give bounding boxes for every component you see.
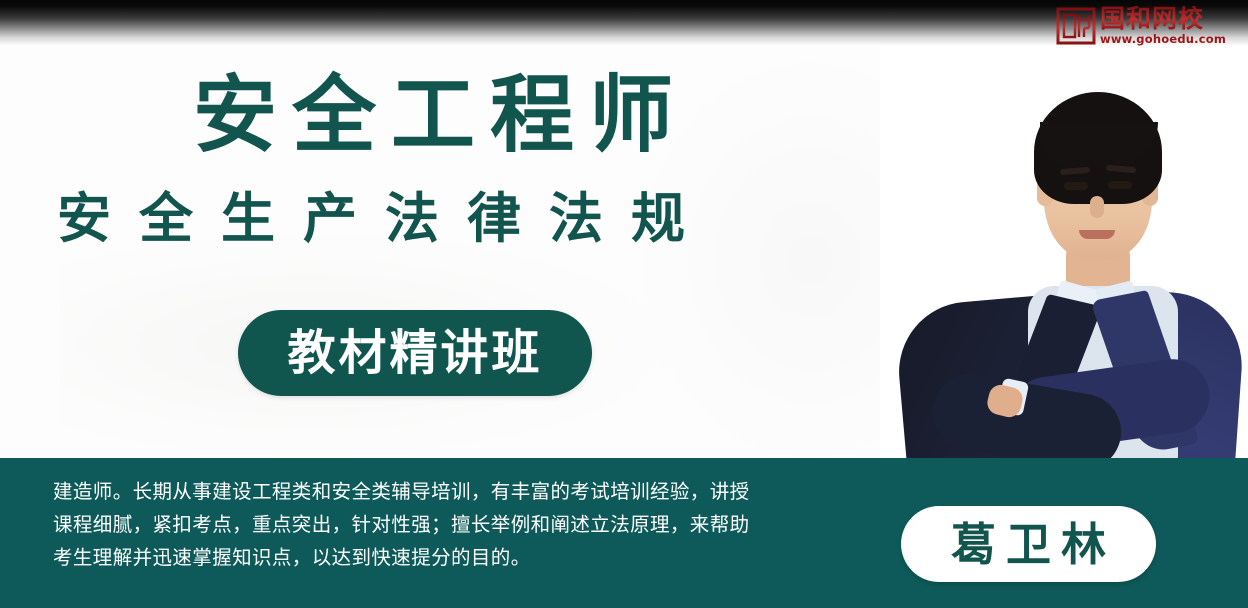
instructor-bio: 建造师。长期从事建设工程类和安全类辅导培训，有丰富的考试培训经验，讲授 课程细腻… bbox=[53, 475, 823, 574]
brand-logo-text: 国和网校 www.gohoedu.com bbox=[1100, 6, 1226, 46]
brand-logo[interactable]: 国和网校 www.gohoedu.com bbox=[1056, 2, 1242, 50]
brand-url: www.gohoedu.com bbox=[1100, 34, 1226, 46]
bio-line: 建造师。长期从事建设工程类和安全类辅导培训，有丰富的考试培训经验，讲授 bbox=[53, 475, 823, 508]
course-type-badge[interactable]: 教材精讲班 bbox=[238, 310, 592, 396]
bio-line: 考生理解并迅速掌握知识点，以达到快速提分的目的。 bbox=[53, 541, 823, 574]
instructor-name: 葛卫林 bbox=[941, 522, 1116, 567]
gohoedu-logo-mark-icon bbox=[1056, 6, 1096, 46]
brand-name: 国和网校 bbox=[1100, 6, 1226, 31]
page-subtitle: 安全生产法律法规 bbox=[57, 192, 713, 246]
page-title: 安全工程师 bbox=[193, 73, 688, 157]
eye-left bbox=[1064, 182, 1088, 190]
mouth bbox=[1079, 230, 1115, 239]
eye-right bbox=[1108, 181, 1132, 189]
course-type-badge-label: 教材精讲班 bbox=[287, 329, 542, 377]
nose bbox=[1090, 196, 1104, 218]
bio-line: 课程细腻，紧扣考点，重点突出，针对性强；擅长举例和阐述立法原理，来帮助 bbox=[53, 508, 823, 541]
instructor-name-badge: 葛卫林 bbox=[901, 506, 1156, 582]
course-banner: 国和网校 www.gohoedu.com 安全工程师 安全生产法律法规 教材精讲… bbox=[0, 0, 1248, 608]
